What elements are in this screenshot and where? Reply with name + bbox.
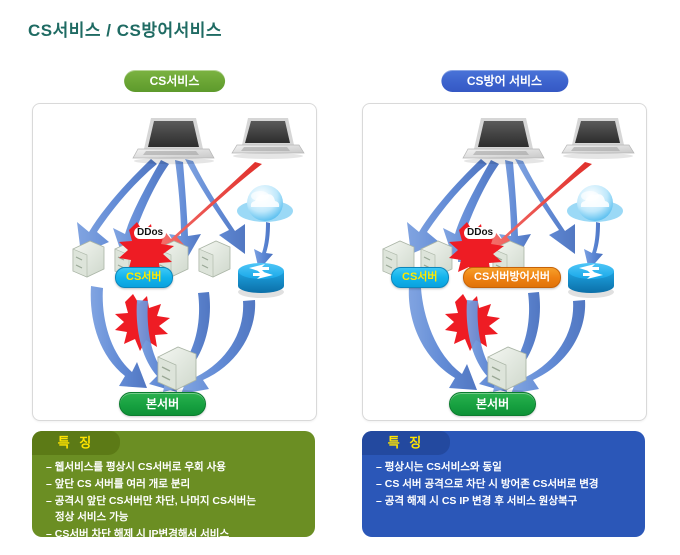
laptop-icon-right — [232, 118, 304, 159]
laptop-icon-left — [133, 118, 214, 164]
feature-tab-label: 특 징 — [32, 431, 120, 455]
ddos-label: DDos — [134, 227, 166, 239]
diagram-graphic-cs-defense-service — [363, 104, 646, 420]
list-item: 평상시는 CS서비스와 동일 — [376, 459, 635, 475]
list-item: CS 서버 공격으로 차단 시 방어존 CS서버로 변경 — [376, 476, 635, 492]
section-heading-cs-service: CS서비스 — [124, 70, 226, 92]
cloud-icon — [237, 185, 293, 222]
router-icon — [568, 263, 614, 298]
feature-list-cs-defense-service: 평상시는 CS서비스와 동일 CS 서버 공격으로 차단 시 방어존 CS서버로… — [376, 459, 635, 510]
diagram-panel-cs-defense-service: DDos CS서버 CS서버방어서버 본서버 — [362, 103, 647, 421]
node-label-cs-defense-server: CS서버방어서버 — [463, 267, 561, 288]
cloud-icon — [567, 185, 623, 222]
list-item: 앞단 CS 서버를 여러 개로 분리 — [46, 476, 305, 492]
node-label-cs-server: CS서버 — [391, 267, 449, 288]
column-cs-defense-service: CS방어 서비스 — [352, 0, 657, 555]
node-label-cs-server: CS서버 — [115, 267, 173, 288]
list-item: 웹서비스를 평상시 CS서버로 우회 사용 — [46, 459, 305, 475]
node-label-main-server: 본서버 — [449, 392, 536, 416]
router-icon — [238, 263, 284, 298]
feature-box-cs-service: 특 징 웹서비스를 평상시 CS서버로 우회 사용 앞단 CS 서버를 여러 개… — [32, 431, 315, 537]
list-item: 공격 해제 시 CS IP 변경 후 서비스 원상복구 — [376, 493, 635, 509]
section-heading-cs-defense-service: CS방어 서비스 — [441, 70, 568, 92]
diagram-graphic-cs-service — [33, 104, 316, 420]
laptop-icon-left — [463, 118, 544, 164]
feature-list-cs-service: 웹서비스를 평상시 CS서버로 우회 사용 앞단 CS 서버를 여러 개로 분리… — [46, 459, 305, 543]
list-item: CS서버 차단 해제 시 IP변경해서 서비스 — [46, 526, 305, 542]
column-cs-service: CS서비스 — [22, 0, 327, 555]
list-item: 공격시 앞단 CS서버만 차단, 나머지 CS서버는 정상 서비스 가능 — [46, 493, 305, 525]
feature-tab-label: 특 징 — [362, 431, 450, 455]
diagram-panel-cs-service: DDos CS서버 본서버 — [32, 103, 317, 421]
ddos-label: DDos — [464, 227, 496, 239]
laptop-icon-right — [562, 118, 634, 159]
feature-box-cs-defense-service: 특 징 평상시는 CS서비스와 동일 CS 서버 공격으로 차단 시 방어존 C… — [362, 431, 645, 537]
node-label-main-server: 본서버 — [119, 392, 206, 416]
